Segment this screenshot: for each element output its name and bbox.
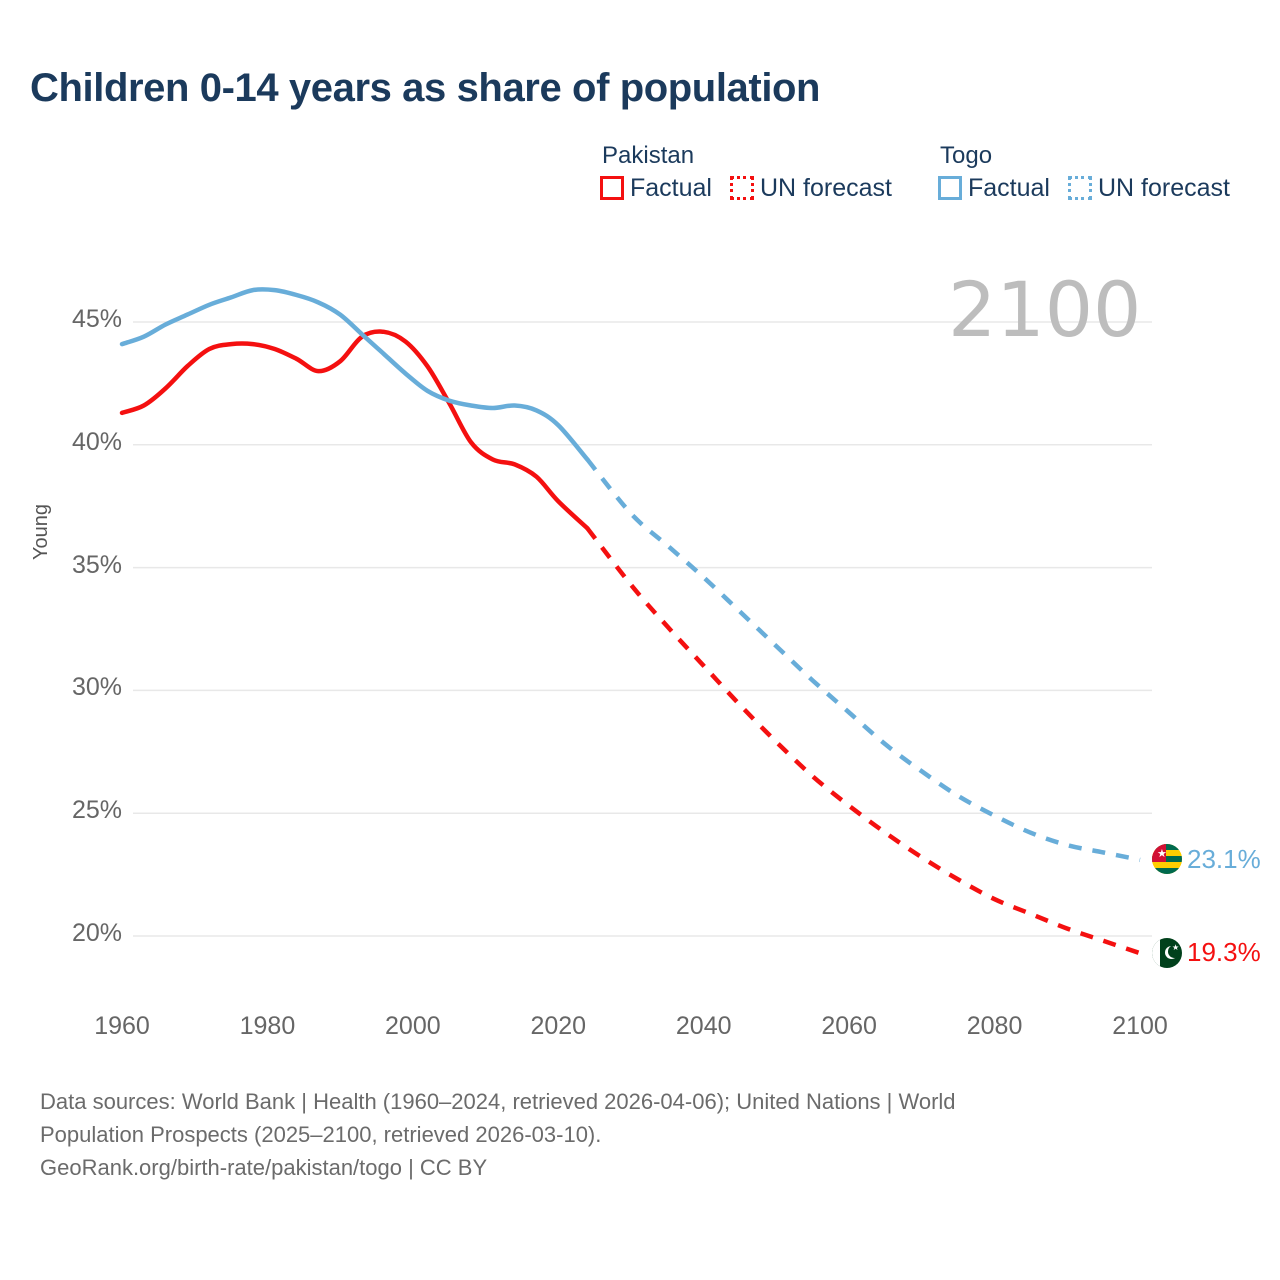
y-tick-label: 20% (22, 919, 122, 948)
y-tick-label: 35% (22, 551, 122, 580)
x-tick-label: 1960 (62, 1012, 182, 1041)
footer-line-1: Data sources: World Bank | Health (1960–… (40, 1085, 1240, 1118)
series-line-togo-factual (122, 289, 587, 459)
end-label-togo-value: 23.1% (1187, 844, 1261, 875)
year-watermark: 2100 (948, 272, 1141, 348)
chart-page: Children 0-14 years as share of populati… (0, 0, 1280, 1280)
x-tick-label: 2040 (644, 1012, 764, 1041)
x-tick-label: 1980 (207, 1012, 327, 1041)
pakistan-flag-icon: ★ (1152, 938, 1182, 968)
x-tick-label: 2020 (498, 1012, 618, 1041)
footer-attribution: Data sources: World Bank | Health (1960–… (40, 1085, 1240, 1184)
series-line-pakistan-forecast (587, 528, 1140, 953)
y-tick-label: 45% (22, 305, 122, 334)
x-tick-label: 2100 (1080, 1012, 1200, 1041)
end-label-togo: ★ 23.1% (1152, 844, 1261, 875)
end-label-pakistan: ★ 19.3% (1152, 937, 1261, 968)
x-tick-label: 2000 (353, 1012, 473, 1041)
togo-flag-icon: ★ (1152, 844, 1182, 874)
chart-canvas (0, 0, 1280, 1060)
x-tick-label: 2080 (935, 1012, 1055, 1041)
plot-area: 2100 Young 20%25%30%35%40%45% 1960198020… (0, 0, 1280, 1060)
y-tick-label: 40% (22, 428, 122, 457)
end-label-pakistan-value: 19.3% (1187, 937, 1261, 968)
y-tick-label: 30% (22, 673, 122, 702)
y-tick-label: 25% (22, 796, 122, 825)
series-line-pakistan-factual (122, 332, 587, 529)
x-tick-label: 2060 (789, 1012, 909, 1041)
footer-line-2: Population Prospects (2025–2100, retriev… (40, 1118, 1240, 1151)
series-line-togo-forecast (587, 460, 1140, 860)
footer-line-3[interactable]: GeoRank.org/birth-rate/pakistan/togo | C… (40, 1151, 1240, 1184)
